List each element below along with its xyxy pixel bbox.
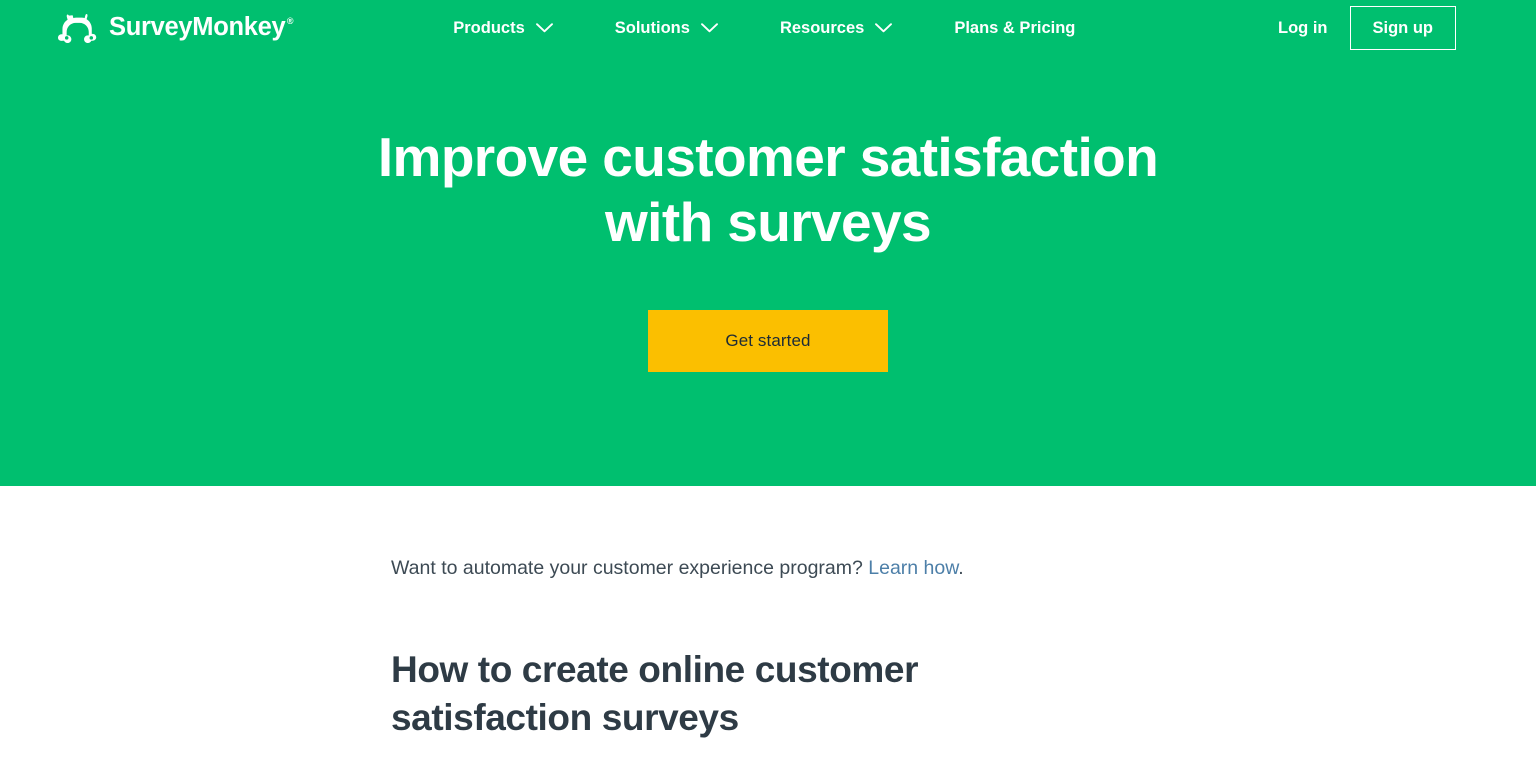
hero-title: Improve customer satisfaction with surve…	[318, 125, 1218, 255]
automate-lede: Want to automate your customer experienc…	[391, 554, 1145, 583]
get-started-button[interactable]: Get started	[648, 310, 888, 372]
section-heading: How to create online customer satisfacti…	[391, 646, 951, 742]
automate-lede-text: Want to automate your customer experienc…	[391, 557, 863, 579]
content-inner: Want to automate your customer experienc…	[0, 486, 1145, 742]
automate-lede-period: .	[958, 557, 963, 579]
content-section: Want to automate your customer experienc…	[0, 486, 1536, 779]
hero-content: Improve customer satisfaction with surve…	[0, 0, 1536, 486]
learn-how-link[interactable]: Learn how	[868, 557, 958, 579]
hero-section: SurveyMonkey® Products Solutions	[0, 0, 1536, 486]
